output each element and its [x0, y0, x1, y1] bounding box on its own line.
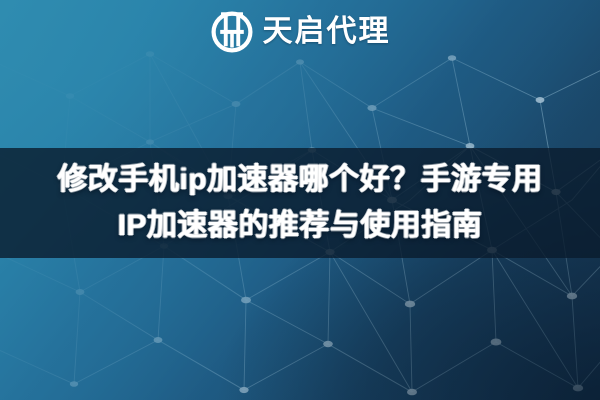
promo-banner: 天启代理 修改手机ip加速器哪个好？手游专用 IP加速器的推荐与使用指南	[0, 0, 600, 400]
page-title-line-1: 修改手机ip加速器哪个好？手游专用	[57, 157, 542, 203]
title-band: 修改手机ip加速器哪个好？手游专用 IP加速器的推荐与使用指南	[0, 148, 600, 258]
brand-logo: 天启代理	[0, 8, 600, 56]
page-title-line-2: IP加速器的推荐与使用指南	[118, 203, 483, 249]
brand-name: 天启代理	[263, 17, 391, 47]
circle-h-monogram-icon	[210, 10, 254, 54]
